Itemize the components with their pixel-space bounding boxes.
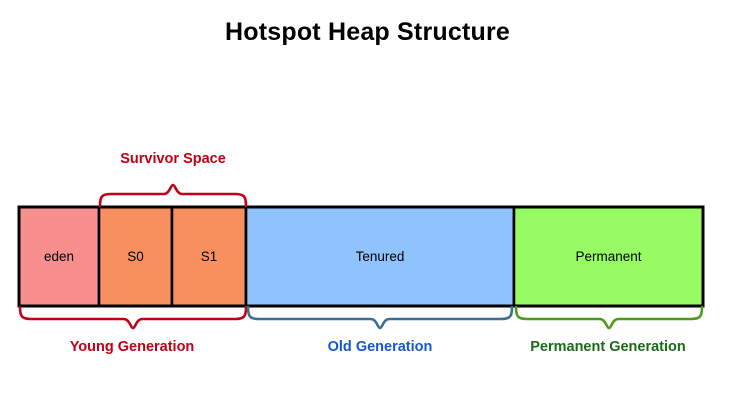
segment-label-permanent: Permanent [514, 250, 703, 264]
segment-label-tenured: Tenured [246, 250, 514, 264]
segment-label-s1: S1 [172, 250, 246, 264]
heap-structure-diagram: Hotspot Heap Structure edenS0S1TenuredPe… [0, 0, 735, 413]
brace-label-survivor-space: Survivor Space [120, 152, 226, 167]
brace-old-generation [248, 307, 512, 328]
brace-label-old-generation: Old Generation [328, 340, 433, 355]
brace-label-young-generation: Young Generation [70, 340, 195, 355]
segment-label-eden: eden [19, 250, 99, 264]
brace-label-permanent-generation: Permanent Generation [530, 340, 686, 355]
segment-label-s0: S0 [99, 250, 172, 264]
brace-young-generation [20, 307, 246, 328]
brace-permanent-generation [516, 307, 702, 328]
brace-survivor-space [100, 185, 246, 206]
